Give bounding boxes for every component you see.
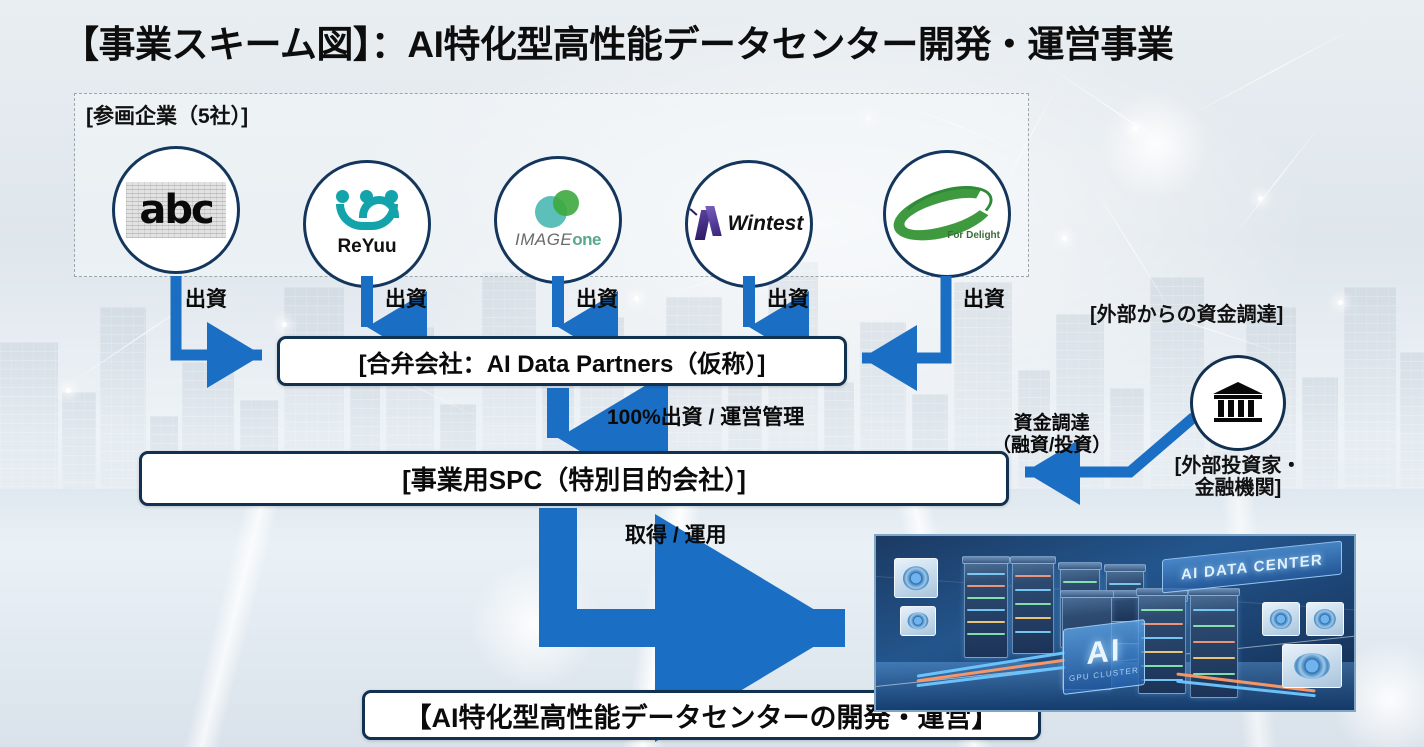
investment-label-3: 出資	[576, 283, 618, 313]
scheme-diagram-canvas: 【事業スキーム図】：AI特化型高性能データセンター開発・運営事業 [参画企業（5…	[0, 0, 1424, 747]
joint-venture-box[interactable]: [合弁会社：AI Data Partners（仮称）]	[277, 336, 847, 386]
investment-label-5: 出資	[963, 283, 1005, 313]
flow-label-spc-to-datacenter: 取得 / 運用	[625, 519, 727, 549]
datacenter-ai-badge: AI GPU CLUSTER	[1063, 619, 1145, 695]
investment-label-1: 出資	[185, 283, 227, 313]
flow-label-investor-to-spc: 資金調達 （融資/投資）	[992, 413, 1111, 457]
flow-label-jv-to-spc: 100%出資 / 運営管理	[607, 401, 804, 431]
bank-icon	[1212, 381, 1264, 425]
datacenter-sign-text: AI DATA CENTER	[1162, 541, 1342, 594]
bank-institution-circle[interactable]	[1190, 355, 1286, 451]
investment-label-4: 出資	[767, 283, 809, 313]
datacenter-illustration: AI DATA CENTER AI GPU CLUSTER	[874, 534, 1356, 712]
external-investor-label: [外部投資家・ 金融機関]	[1163, 455, 1313, 500]
spc-box[interactable]: [事業用SPC（特別目的会社）]	[139, 451, 1009, 506]
datacenter-ai-label: AI	[1087, 633, 1122, 668]
external-funding-title: [外部からの資金調達]	[1090, 298, 1283, 327]
arrow-company5-to-jv	[862, 276, 946, 358]
investment-label-2: 出資	[385, 283, 427, 313]
